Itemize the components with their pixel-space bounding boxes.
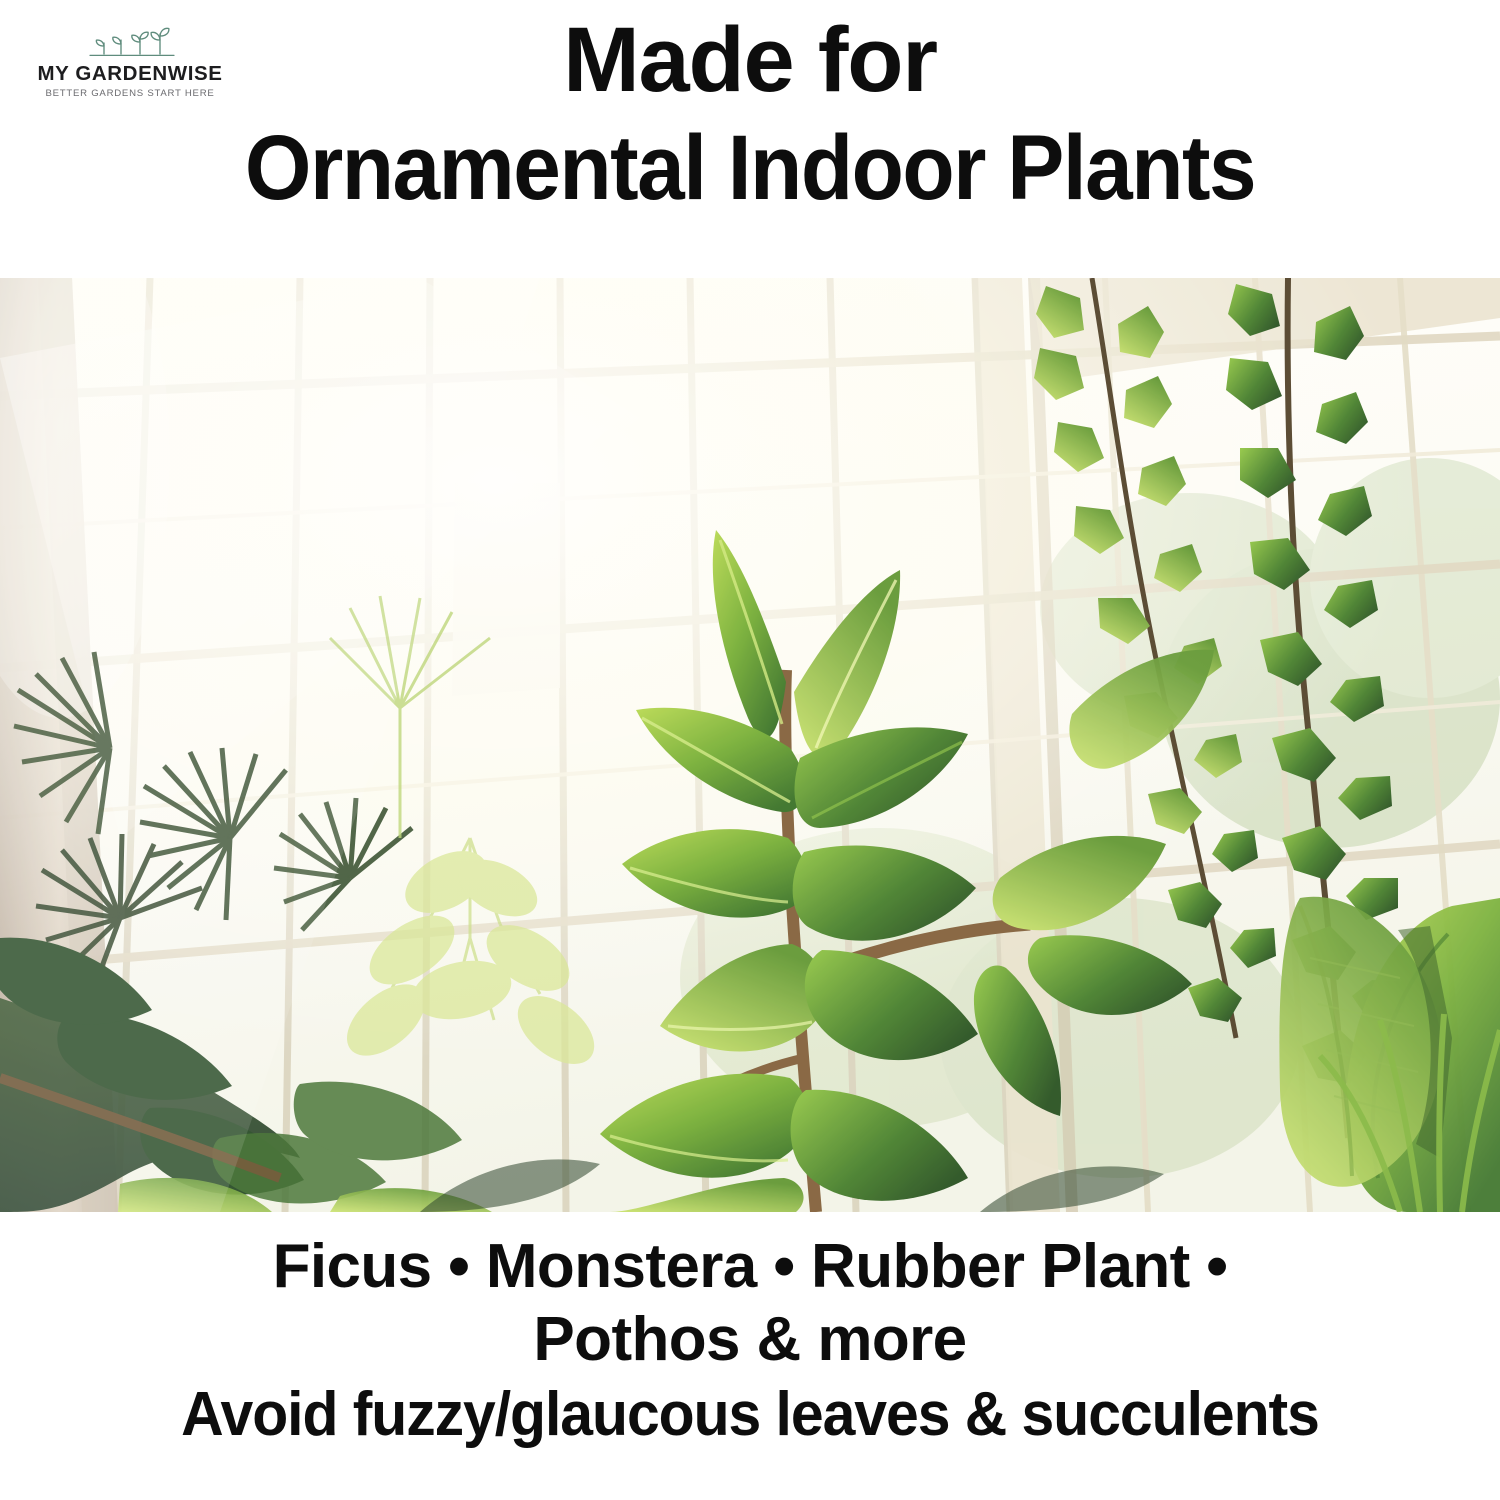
headline: Made for Ornamental Indoor Plants — [0, 14, 1500, 216]
avoid-note-line: Avoid fuzzy/glaucous leaves & succulents — [38, 1378, 1463, 1451]
header-band: MY GARDENWISE BETTER GARDENS START HERE … — [0, 0, 1500, 278]
footer-band: Ficus • Monstera • Rubber Plant • Pothos… — [0, 1212, 1500, 1500]
hero-photo — [0, 278, 1500, 1212]
plant-list-line-1: Ficus • Monstera • Rubber Plant • — [0, 1230, 1500, 1303]
plant-list-line-2: Pothos & more — [0, 1303, 1500, 1376]
product-feature-card: MY GARDENWISE BETTER GARDENS START HERE … — [0, 0, 1500, 1500]
headline-line-2: Ornamental Indoor Plants — [77, 122, 1424, 216]
headline-line-1: Made for — [26, 14, 1474, 108]
greenhouse-scene-illustration — [0, 278, 1500, 1212]
